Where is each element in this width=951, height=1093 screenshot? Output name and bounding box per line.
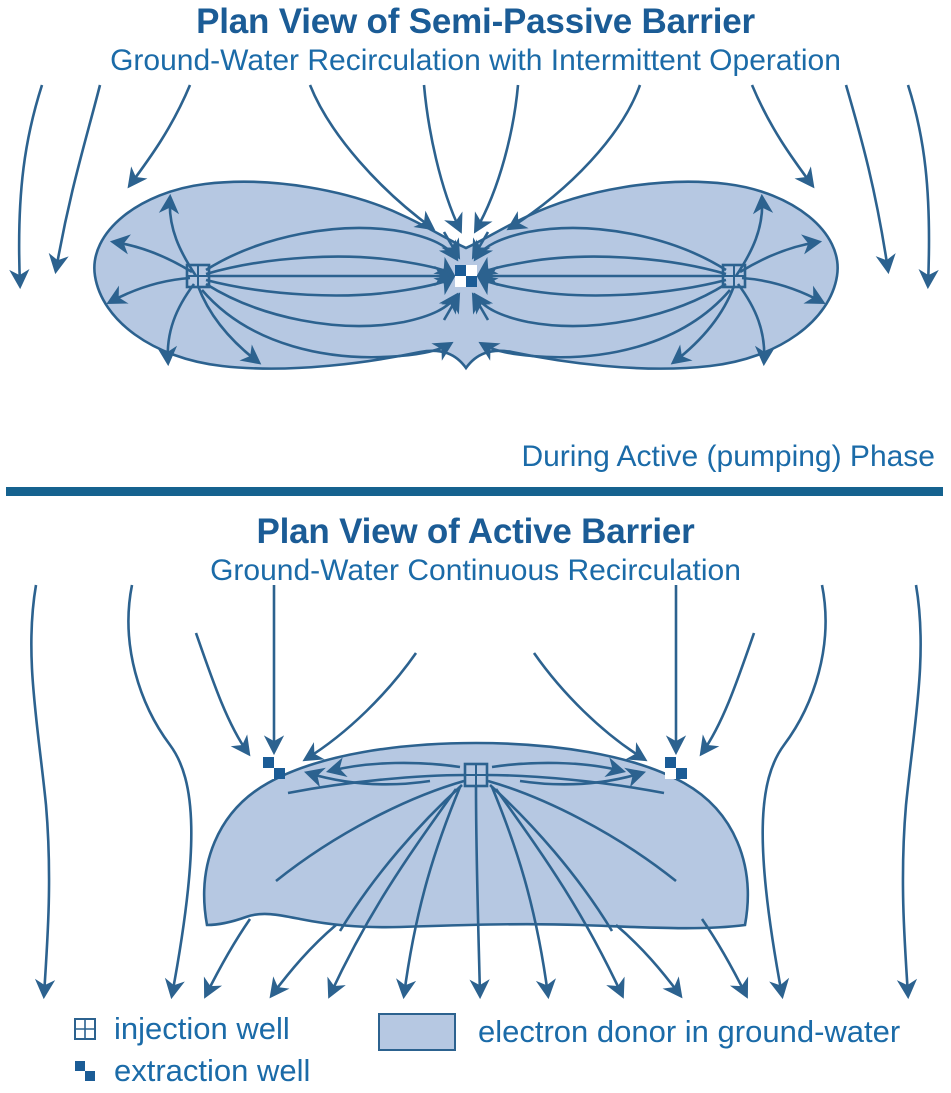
legend: injection well extraction well electron … — [0, 1008, 951, 1093]
extraction-well-right-bottom[interactable] — [665, 757, 687, 779]
page-title-top: Plan View of Semi-Passive Barrier — [0, 2, 951, 42]
legend-item-extraction-well: extraction well — [72, 1050, 310, 1092]
legend-label-electron-donor: electron donor in ground-water — [478, 1014, 900, 1050]
legend-column-plume: electron donor in ground-water — [378, 1011, 900, 1053]
page-subtitle-top: Ground-Water Recirculation with Intermit… — [0, 44, 951, 78]
extraction-well-center[interactable] — [455, 265, 477, 287]
filled-rectangle-icon — [378, 1013, 456, 1051]
legend-label-extraction-well: extraction well — [114, 1053, 310, 1089]
legend-column-wells: injection well extraction well — [72, 1008, 310, 1092]
page-title-bottom: Plan View of Active Barrier — [0, 512, 951, 552]
semi-passive-barrier-diagram — [0, 80, 951, 430]
checker-square-icon — [72, 1058, 98, 1084]
section-divider — [6, 487, 943, 496]
active-barrier-diagram — [0, 575, 951, 1015]
extraction-well-left-bottom[interactable] — [263, 757, 285, 779]
phase-caption: During Active (pumping) Phase — [521, 440, 935, 474]
diagram-page: Plan View of Semi-Passive Barrier Ground… — [0, 0, 951, 1093]
grid-square-icon — [72, 1016, 98, 1042]
legend-label-injection-well: injection well — [114, 1011, 290, 1047]
legend-item-injection-well: injection well — [72, 1008, 310, 1050]
legend-item-electron-donor: electron donor in ground-water — [378, 1011, 900, 1053]
